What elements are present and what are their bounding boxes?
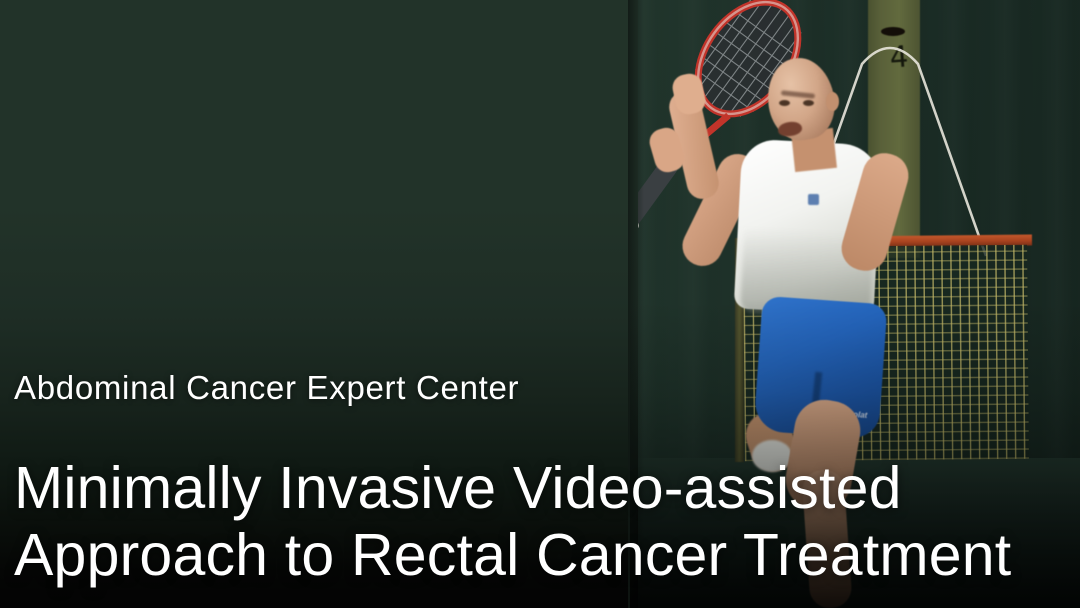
- title-line-2: Approach to Rectal Cancer Treatment: [14, 522, 1074, 589]
- page-title: Minimally Invasive Video-assisted Approa…: [14, 455, 1074, 589]
- video-title-card: 4: [0, 0, 1080, 608]
- text-overlay: Abdominal Cancer Expert Center Minimally…: [0, 0, 1080, 608]
- subtitle: Abdominal Cancer Expert Center: [14, 369, 519, 407]
- title-line-1: Minimally Invasive Video-assisted: [14, 455, 1074, 522]
